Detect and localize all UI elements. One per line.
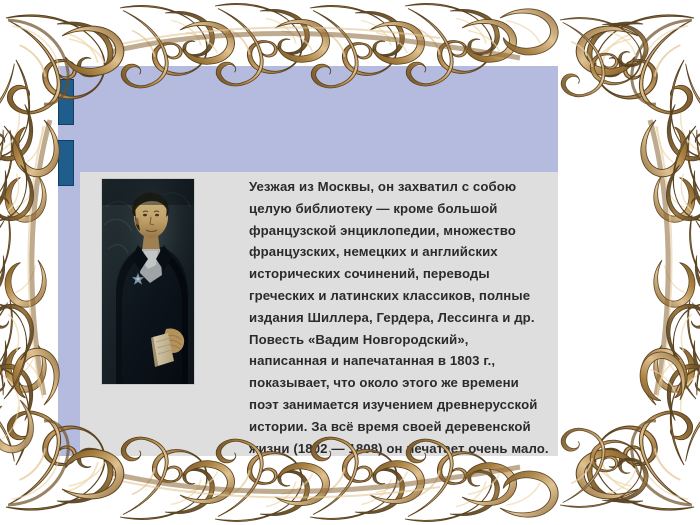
- accent-bar-top: [58, 79, 74, 125]
- frame-corner-bottom-right: [576, 281, 700, 510]
- accent-bar-bottom: [58, 140, 74, 186]
- slide-body-text: Уезжая из Москвы, он захватил с собою це…: [249, 176, 549, 525]
- slide-stage: Уезжая из Москвы, он захватил с собою це…: [0, 0, 700, 525]
- portrait-image: [101, 178, 195, 385]
- portrait-painting: [102, 179, 194, 384]
- frame-left: [0, 120, 50, 395]
- frame-corner-top-right: [576, 15, 700, 244]
- frame-right: [650, 120, 700, 395]
